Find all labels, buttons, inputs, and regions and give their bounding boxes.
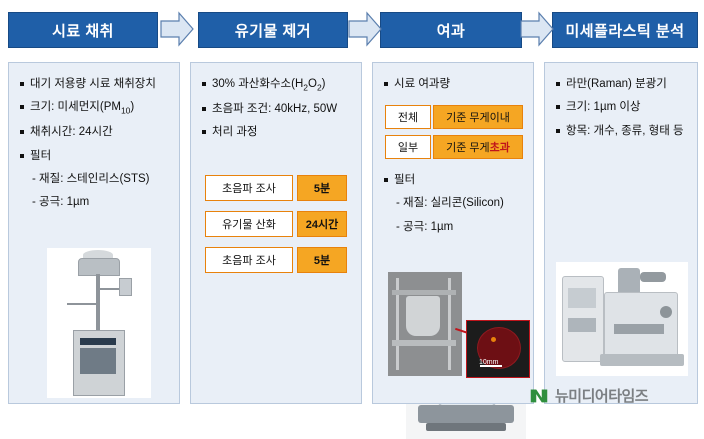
watermark: 뉴미디어타임즈 [528,384,648,406]
criterion-value: 초과 [490,139,510,155]
filter-criterion-exceed: 기준 무게 초과 [433,135,523,159]
process-arrow-icon [520,10,554,48]
stage-header-filtration-label: 여과 [437,20,466,41]
list-subitem: 재질: 스테인리스(STS) [32,172,173,186]
list-item: 초음파 조건: 40kHz, 50W [201,102,355,116]
organic-removal-bullet-list: 30% 과산화수소(H2O2) 초음파 조건: 40kHz, 50W 처리 과정 [201,77,355,149]
watermark-logo-icon [528,384,550,406]
filtration-apparatus-photo [388,272,462,376]
filter-closeup-inset: 10mm [466,320,530,378]
stage-header-organic-removal: 유기물 제거 [198,12,348,48]
stage-panel-organic-removal: 30% 과산화수소(H2O2) 초음파 조건: 40kHz, 50W 처리 과정… [190,62,362,404]
low-volume-air-sampler-photo [47,248,151,398]
list-item: 필터 [383,173,527,187]
stage-header-analysis-label: 미세플라스틱 분석 [565,20,684,41]
criterion-value: 이내 [490,109,510,125]
diagram-canvas: 시료 채취 유기물 제거 여과 미세플라스틱 분석 대기 저용량 시료 채취장치… [0,0,704,419]
watermark-text: 뉴미디어타임즈 [555,385,648,406]
step-label-3: 초음파 조사 [205,247,293,273]
criterion-prefix: 기준 무게 [446,109,490,125]
filtration-bullet-list: 시료 여과량 [383,77,527,100]
step-value-2: 24시간 [297,211,347,237]
criterion-prefix: 기준 무게 [446,139,490,155]
stage-header-sampling-label: 시료 채취 [52,20,114,41]
list-item: 크기: 1µm 이상 [555,100,691,114]
list-item: 항목: 개수, 종류, 형태 등 [555,124,691,138]
process-arrow-icon [160,10,194,48]
stage-header-filtration: 여과 [380,12,522,48]
list-item: 처리 과정 [201,125,355,139]
step-value-3: 5분 [297,247,347,273]
stage-header-analysis: 미세플라스틱 분석 [552,12,698,48]
filter-scope-partial: 일부 [385,135,431,159]
stage-header-organic-removal-label: 유기물 제거 [235,20,311,41]
list-item: 라만(Raman) 분광기 [555,77,691,91]
step-label-1: 초음파 조사 [205,175,293,201]
list-item: 필터 [19,149,173,163]
list-subitem: 공극: 1µm [32,195,173,209]
list-item: 30% 과산화수소(H2O2) [201,77,355,93]
stage-panel-sampling: 대기 저용량 시료 채취장치 크기: 미세먼지(PM10) 채취시간: 24시간… [8,62,180,404]
list-item: 시료 여과량 [383,77,527,91]
list-subitem: 재질: 실리콘(Silicon) [396,196,527,210]
process-arrow-icon [348,10,382,48]
step-label-2: 유기물 산화 [205,211,293,237]
step-value-1: 5분 [297,175,347,201]
filtration-filter-list: 필터 재질: 실리콘(Silicon) 공극: 1µm [383,173,527,243]
sampling-bullet-list: 대기 저용량 시료 채취장치 크기: 미세먼지(PM10) 채취시간: 24시간… [19,77,173,219]
raman-spectrometer-photo [556,262,688,376]
list-item: 대기 저용량 시료 채취장치 [19,77,173,91]
list-item: 채취시간: 24시간 [19,125,173,139]
stage-header-sampling: 시료 채취 [8,12,158,48]
list-item: 크기: 미세먼지(PM10) [19,100,173,116]
filter-scope-all: 전체 [385,105,431,129]
analysis-bullet-list: 라만(Raman) 분광기 크기: 1µm 이상 항목: 개수, 종류, 형태 … [555,77,691,147]
filter-criterion-within: 기준 무게 이내 [433,105,523,129]
list-subitem: 공극: 1µm [396,220,527,234]
